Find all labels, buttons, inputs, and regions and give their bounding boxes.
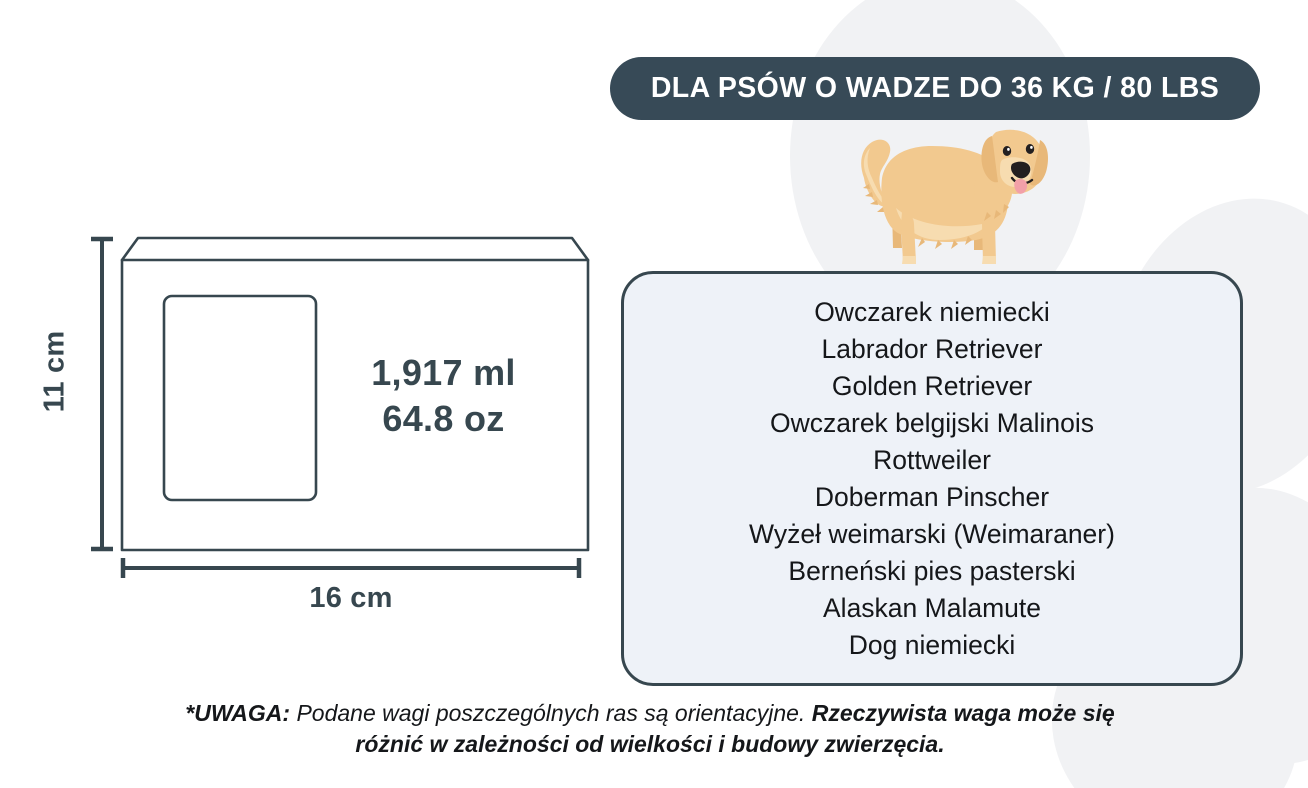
breed-list-item: Wyżeł weimarski (Weimaraner) <box>749 516 1115 553</box>
breed-list-item: Dog niemiecki <box>849 627 1015 664</box>
breed-list-panel: Owczarek niemiecki Labrador Retriever Go… <box>621 271 1243 686</box>
infographic-canvas: DLA PSÓW O WADZE DO 36 KG / 80 LBS <box>0 0 1308 788</box>
header-weight-badge: DLA PSÓW O WADZE DO 36 KG / 80 LBS <box>610 57 1260 120</box>
breed-list-item: Rottweiler <box>873 442 991 479</box>
box-height-label: 11 cm <box>39 312 72 432</box>
footnote-normal-text: Podane wagi poszczególnych ras są orient… <box>290 700 812 726</box>
volume-ounces: 64.8 oz <box>336 396 551 442</box>
footnote-disclaimer: *UWAGA: Podane wagi poszczególnych ras s… <box>170 698 1130 760</box>
volume-milliliters: 1,917 ml <box>336 350 551 396</box>
breed-list-item: Owczarek belgijski Malinois <box>770 405 1094 442</box>
box-volume-block: 1,917 ml 64.8 oz <box>336 350 551 442</box>
footnote-lead: *UWAGA: <box>185 700 290 726</box>
breed-list-item: Doberman Pinscher <box>815 479 1049 516</box>
breed-list-item: Berneński pies pasterski <box>788 553 1075 590</box>
header-badge-label: DLA PSÓW O WADZE DO 36 KG / 80 LBS <box>651 72 1219 105</box>
breed-list-item: Golden Retriever <box>832 368 1032 405</box>
golden-retriever-dog-icon <box>856 112 1052 272</box>
breed-list-item: Owczarek niemiecki <box>814 294 1050 331</box>
box-width-label: 16 cm <box>122 582 580 615</box>
breed-list-item: Alaskan Malamute <box>823 590 1041 627</box>
breed-list-item: Labrador Retriever <box>822 331 1043 368</box>
